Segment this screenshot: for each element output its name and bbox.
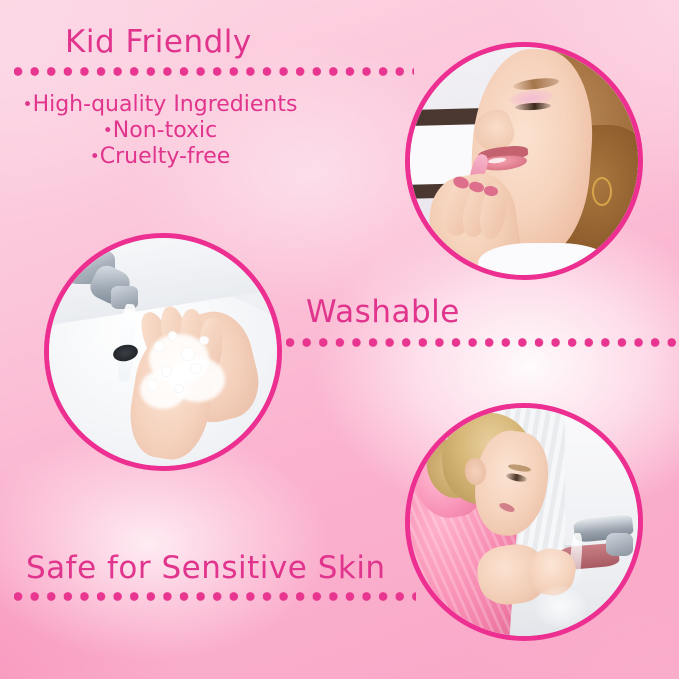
photo2-soap-bubble xyxy=(161,366,172,377)
feature-bullet-list: •High-quality Ingredients •Non-toxic •Cr… xyxy=(0,92,320,170)
photo-content xyxy=(410,408,638,636)
photo2-soap-bubble xyxy=(174,384,183,393)
photo2-soap-bubble xyxy=(199,336,208,345)
list-item-label: High-quality Ingredients xyxy=(33,92,298,117)
list-item-label: Non-toxic xyxy=(113,118,217,143)
list-item: •Non-toxic xyxy=(0,118,320,144)
list-item-label: Cruelty-free xyxy=(100,144,231,169)
divider-under-washable xyxy=(286,338,679,347)
list-item: •Cruelty-free xyxy=(0,144,320,170)
photo1-white-shirt xyxy=(478,243,610,275)
photo3-water-splash xyxy=(535,586,585,627)
product-feature-infographic: Kid Friendly •High-quality Ingredients •… xyxy=(0,0,679,679)
heading-kid-friendly: Kid Friendly xyxy=(65,24,252,60)
bullet-dot-icon: • xyxy=(103,121,113,141)
photo2-soap-bubble xyxy=(190,363,200,373)
photo2-soap-bubble xyxy=(181,347,195,361)
photo-soapy-hands-under-faucet xyxy=(44,233,282,471)
photo-content xyxy=(49,238,277,466)
heading-safe-for-sensitive-skin: Safe for Sensitive Skin xyxy=(26,550,386,586)
photo2-soap-bubble xyxy=(147,379,158,390)
heading-washable: Washable xyxy=(306,294,460,330)
photo3-faucet-base xyxy=(606,533,633,556)
bullet-dot-icon: • xyxy=(23,95,33,115)
divider-under-kid-friendly xyxy=(14,67,414,76)
photo-content xyxy=(410,47,638,275)
photo2-soap-bubble xyxy=(168,331,177,340)
list-item: •High-quality Ingredients xyxy=(0,92,320,118)
photo1-painted-nail xyxy=(483,185,498,196)
photo-girl-washing-hands-at-sink xyxy=(405,403,643,641)
divider-under-safe-skin xyxy=(14,592,416,601)
bullet-dot-icon: • xyxy=(90,147,100,167)
photo-girl-applying-lip-gloss xyxy=(405,42,643,280)
